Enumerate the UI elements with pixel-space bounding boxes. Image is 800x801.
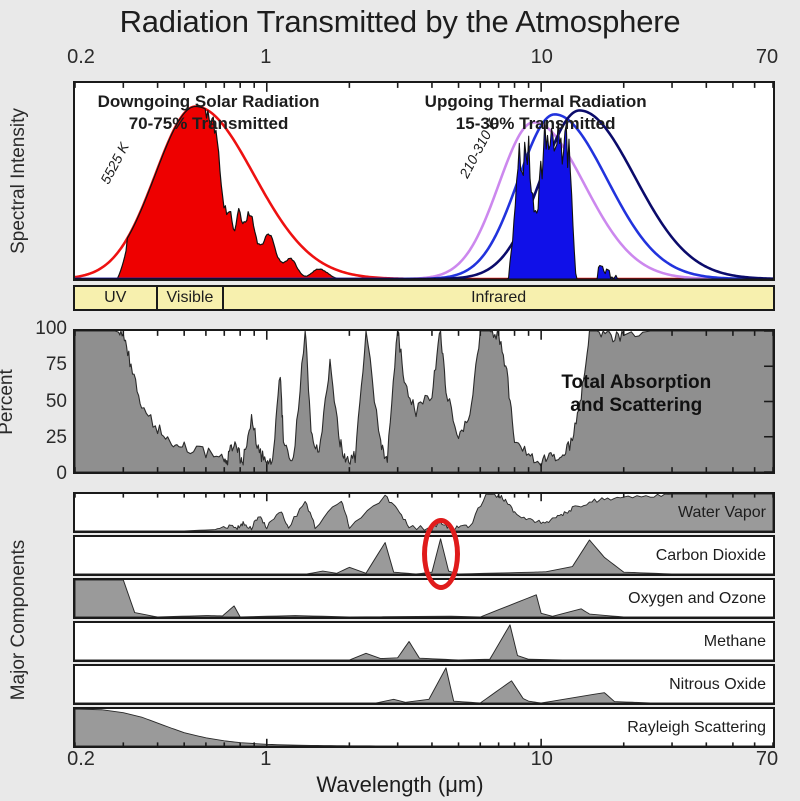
total-absorption-label: Total Absorption and Scattering <box>561 371 711 417</box>
x-tick-0-2: 0.2 <box>67 748 95 771</box>
x-axis-label: Wavelength (μm) <box>0 772 800 798</box>
component-row-label: Nitrous Oxide <box>669 676 766 694</box>
y-axis-label-percent: Percent <box>0 369 18 434</box>
x-tick-10: 10 <box>531 46 553 69</box>
percent-tick-75: 75 <box>46 354 67 376</box>
percent-tick-100: 100 <box>35 318 67 340</box>
component-row-carbon-dioxide: Carbon Dioxide <box>73 535 775 576</box>
component-row-methane: Methane <box>73 621 775 662</box>
component-row-water-vapor: Water Vapor <box>73 492 775 533</box>
component-row-label: Oxygen and Ozone <box>628 590 766 608</box>
total-absorption-label-line1: Total Absorption <box>561 371 711 394</box>
percent-tick-50: 50 <box>46 391 67 413</box>
annotation-downgoing-solar-line1: Downgoing Solar Radiation <box>98 91 320 113</box>
component-row-oxygen-and-ozone: Oxygen and Ozone <box>73 578 775 619</box>
spectral-band-bar: UVVisibleInfrared <box>73 285 775 311</box>
page-title: Radiation Transmitted by the Atmosphere <box>0 4 800 40</box>
annotation-downgoing-solar: Downgoing Solar Radiation 70-75% Transmi… <box>98 91 320 135</box>
x-axis-bottom-ticks: 0.211070 <box>0 748 800 770</box>
x-axis-top-ticks: 0.211070 <box>0 46 800 68</box>
annotation-upgoing-thermal-line2: 15-30% Transmitted <box>425 113 647 135</box>
band-segment-uv: UV <box>75 287 158 309</box>
component-row-label: Water Vapor <box>678 504 766 522</box>
annotation-upgoing-thermal-line1: Upgoing Thermal Radiation <box>425 91 647 113</box>
band-segment-infrared: Infrared <box>224 287 773 309</box>
percent-axis-ticks: 1007550250 <box>33 329 67 474</box>
component-row-rayleigh-scattering: Rayleigh Scattering <box>73 707 775 748</box>
total-absorption-label-line2: and Scattering <box>561 394 711 417</box>
component-row-label: Carbon Dioxide <box>656 547 766 565</box>
y-axis-label-spectral-intensity: Spectral Intensity <box>8 108 30 254</box>
annotation-downgoing-solar-line2: 70-75% Transmitted <box>98 113 320 135</box>
band-segment-visible: Visible <box>158 287 225 309</box>
x-tick-70: 70 <box>756 46 778 69</box>
percent-tick-25: 25 <box>46 427 67 449</box>
y-axis-label-major-components: Major Components <box>8 540 30 701</box>
x-tick-1: 1 <box>260 748 271 771</box>
major-components-rows: Water VaporCarbon DioxideOxygen and Ozon… <box>73 492 775 748</box>
x-tick-70: 70 <box>756 748 778 771</box>
percent-tick-0: 0 <box>56 463 67 485</box>
x-tick-1: 1 <box>260 46 271 69</box>
component-row-label: Methane <box>704 633 766 651</box>
component-row-nitrous-oxide: Nitrous Oxide <box>73 664 775 705</box>
component-row-label: Rayleigh Scattering <box>627 719 766 737</box>
annotation-upgoing-thermal: Upgoing Thermal Radiation 15-30% Transmi… <box>425 91 647 135</box>
x-tick-0-2: 0.2 <box>67 46 95 69</box>
x-tick-10: 10 <box>531 748 553 771</box>
